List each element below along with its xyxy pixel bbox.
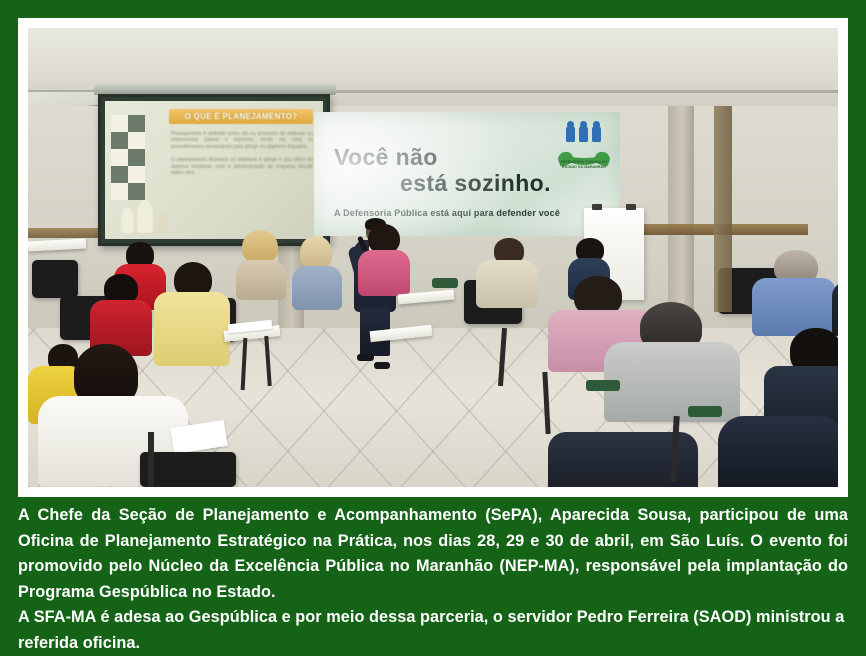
wall-banner: Você não está sozinho. A Defensoria Públ… bbox=[314, 112, 620, 236]
wood-wall-trim-left bbox=[28, 228, 98, 238]
checkerboard-graphic bbox=[111, 115, 167, 207]
presentation-slide: O QUE É PLANEJAMENTO? Planejamento é def… bbox=[105, 101, 323, 239]
attendee-torso bbox=[236, 260, 286, 300]
attendee-gray-jacket bbox=[604, 302, 740, 422]
wall-column-right bbox=[668, 106, 694, 331]
chair-back bbox=[140, 452, 236, 487]
slide-title: O QUE É PLANEJAMENTO? bbox=[169, 109, 313, 124]
attendee-torso bbox=[292, 266, 342, 310]
attendee-blue-shirt bbox=[752, 250, 836, 336]
chess-pieces-graphic bbox=[117, 195, 181, 233]
workshop-photo: O QUE É PLANEJAMENTO? Planejamento é def… bbox=[28, 28, 838, 487]
defensoria-publica-logo-icon: DEFENSORIA PÚBLICA DO ESTADO DO MARANHÃO bbox=[560, 124, 608, 170]
attendee-torso bbox=[718, 416, 838, 487]
caption-paragraph-2: A SFA-MA é adesa ao Gespública e por mei… bbox=[18, 605, 848, 656]
chair-leg bbox=[148, 432, 154, 487]
attendee-head bbox=[242, 230, 278, 264]
chair-back bbox=[32, 260, 78, 298]
projection-screen: O QUE É PLANEJAMENTO? Planejamento é def… bbox=[98, 94, 330, 246]
chair-seat bbox=[432, 278, 458, 288]
banner-line-1: Você não bbox=[334, 144, 438, 171]
chair-seat bbox=[688, 406, 722, 417]
attendee-foreground-dark bbox=[718, 416, 838, 487]
attendee-torso bbox=[358, 250, 410, 296]
attendee-blonde bbox=[234, 230, 290, 300]
attendee-navy-front-right bbox=[764, 328, 838, 428]
caption-paragraph-1: A Chefe da Seção de Planejamento e Acomp… bbox=[18, 503, 848, 605]
attendee-head bbox=[300, 236, 332, 270]
attendee-beige-shirt bbox=[476, 238, 538, 308]
caption-block: A Chefe da Seção de Planejamento e Acomp… bbox=[18, 503, 848, 656]
banner-line-3: A Defensoria Pública está aqui para defe… bbox=[334, 208, 560, 218]
attendee-pink-shirt bbox=[358, 224, 410, 296]
photo-frame: O QUE É PLANEJAMENTO? Planejamento é def… bbox=[18, 18, 848, 497]
slide-paragraph-1: Planejamento é definido como ato ou proc… bbox=[171, 131, 313, 150]
attendee-torso bbox=[476, 260, 538, 308]
slide-body: Planejamento é definido como ato ou proc… bbox=[171, 131, 313, 183]
slide-paragraph-2: O planejamento dinamiza os objetivos e a… bbox=[171, 157, 313, 176]
logo-caption: DEFENSORIA PÚBLICA DO ESTADO DO MARANHÃO bbox=[560, 160, 608, 170]
banner-line-2: está sozinho. bbox=[400, 170, 551, 197]
page-root: O QUE É PLANEJAMENTO? Planejamento é def… bbox=[0, 0, 866, 650]
chair-seat bbox=[586, 380, 620, 391]
wall-column-wood bbox=[714, 106, 732, 312]
speaker-shoe bbox=[374, 362, 390, 369]
attendee-light-hair bbox=[292, 236, 342, 310]
attendee-dark-right bbox=[832, 256, 838, 336]
